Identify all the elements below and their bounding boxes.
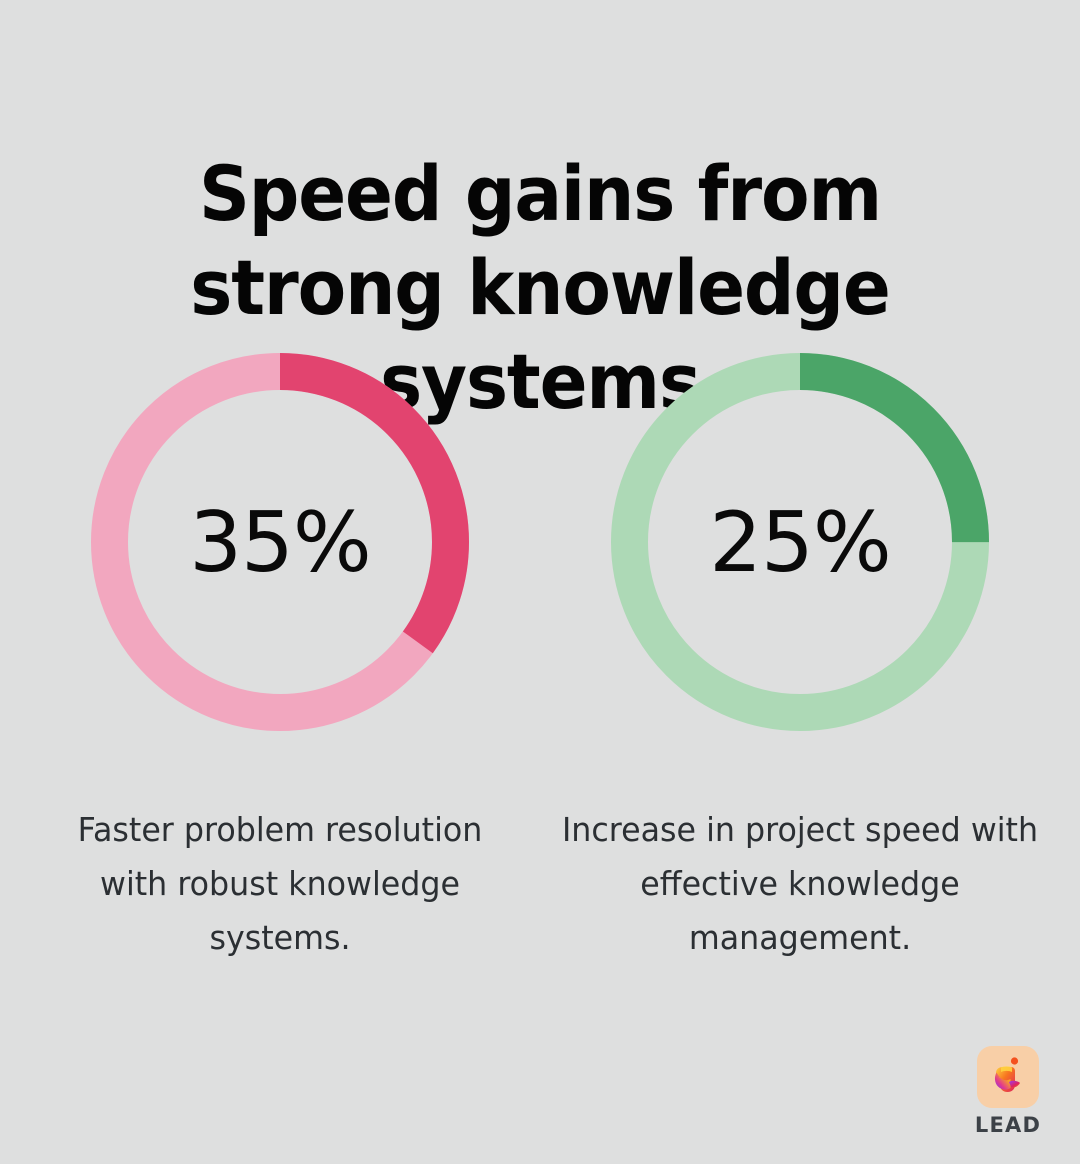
logo-tile (977, 1046, 1039, 1108)
donut-caption-1: Faster problem resolution with robust kn… (30, 803, 529, 965)
donut-charts-row: 35% 25% (0, 352, 1080, 742)
brand-logo: LEAD (960, 1046, 1056, 1136)
donut-card-1: 35% (20, 352, 540, 736)
infographic-canvas: Speed gains from strong knowledge system… (0, 0, 1080, 1164)
donut-caption-2: Increase in project speed with effective… (550, 803, 1049, 965)
donut-chart-1: 35% (90, 352, 470, 732)
captions-row: Faster problem resolution with robust kn… (0, 770, 1080, 998)
bird-i-icon (977, 1046, 1039, 1108)
donut-chart-2: 25% (610, 352, 990, 732)
logo-wordmark: LEAD (975, 1115, 1041, 1136)
donut-value-label-1: 35% (90, 352, 470, 732)
donut-card-2: 25% (540, 352, 1060, 736)
donut-value-label-2: 25% (610, 352, 990, 732)
